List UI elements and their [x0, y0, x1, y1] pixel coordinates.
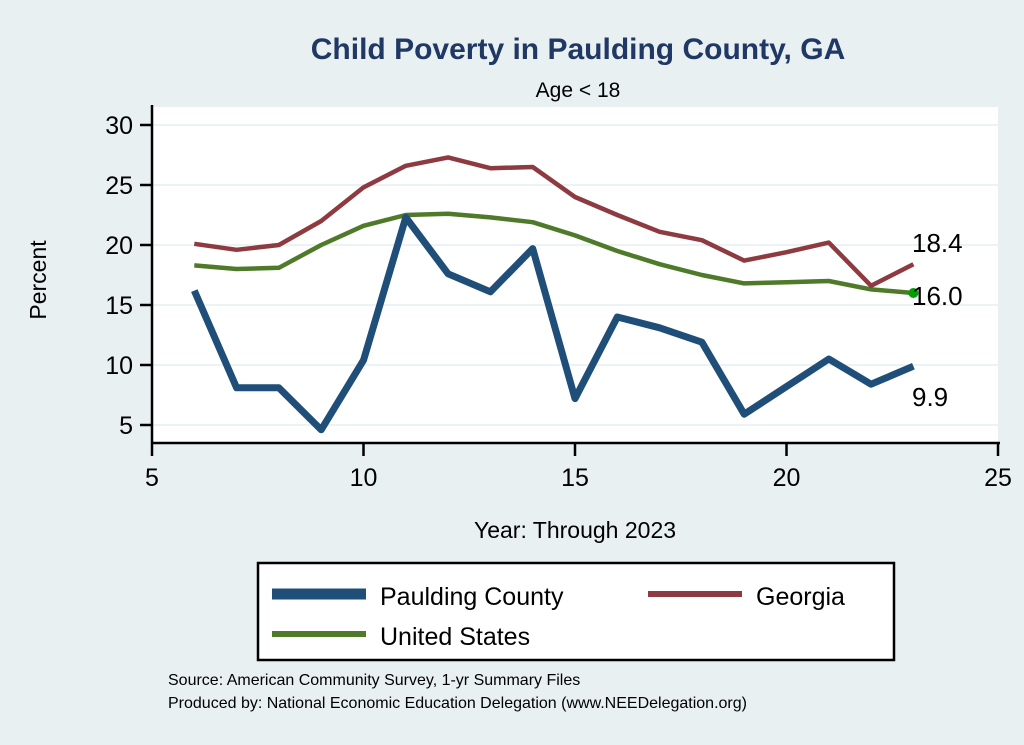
producer-note: Produced by: National Economic Education… — [168, 695, 747, 712]
y-tick-label: 15 — [105, 292, 133, 320]
x-tick-label: 15 — [561, 464, 589, 492]
y-axis-title: Percent — [25, 240, 51, 320]
y-tick-label: 10 — [105, 352, 133, 380]
end-label-paulding-county: 9.9 — [912, 382, 948, 412]
end-label-georgia: 18.4 — [912, 228, 963, 258]
chart-subtitle: Age < 18 — [536, 79, 621, 102]
end-label-united-states: 16.0 — [912, 281, 963, 311]
x-axis-title: Year: Through 2023 — [474, 517, 676, 543]
legend: Paulding CountyGeorgiaUnited States — [258, 563, 894, 660]
y-tick-label: 30 — [105, 112, 133, 140]
source-note: Source: American Community Survey, 1-yr … — [168, 672, 580, 689]
y-tick-label: 5 — [119, 412, 133, 440]
legend-box — [258, 563, 894, 660]
y-tick-label: 25 — [105, 172, 133, 200]
child-poverty-line-chart: Child Poverty in Paulding County, GA Age… — [0, 0, 1024, 745]
x-tick-label: 5 — [145, 464, 159, 492]
x-tick-label: 25 — [984, 464, 1012, 492]
y-tick-label: 20 — [105, 232, 133, 260]
x-tick-label: 10 — [350, 464, 378, 492]
legend-label-united-states: United States — [380, 623, 530, 651]
page-title: Child Poverty in Paulding County, GA — [311, 33, 845, 66]
legend-label-georgia: Georgia — [756, 583, 845, 611]
x-tick-label: 20 — [773, 464, 801, 492]
legend-label-paulding-county: Paulding County — [380, 583, 564, 611]
